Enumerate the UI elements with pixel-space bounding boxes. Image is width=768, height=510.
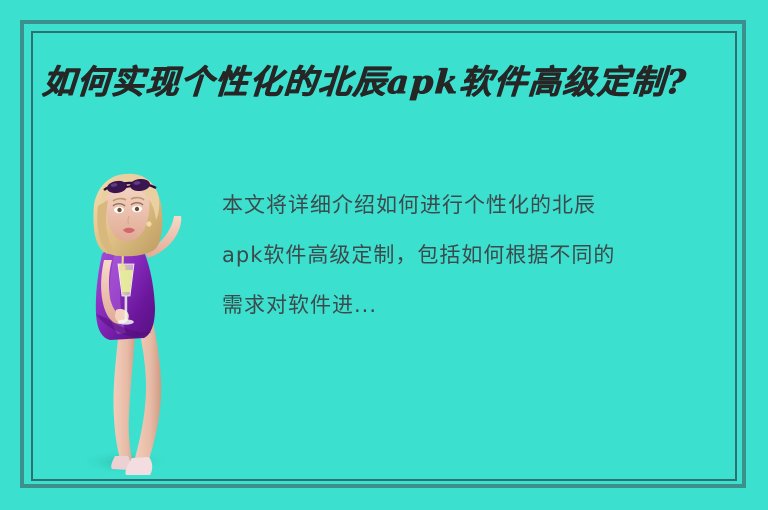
excerpt-line: apk软件高级定制，包括如何根据不同的 [222, 230, 742, 280]
article-excerpt: 本文将详细介绍如何进行个性化的北辰 apk软件高级定制，包括如何根据不同的 需求… [222, 180, 742, 330]
woman-with-champagne-illustration [62, 172, 194, 482]
promo-card: 如何实现个性化的北辰apk软件高级定制? 本文将详细介绍如何进行个性化的北辰 a… [0, 0, 768, 510]
figure-leg-back [113, 320, 136, 460]
page-title: 如何实现个性化的北辰apk软件高级定制? [41, 58, 744, 105]
excerpt-line: 本文将详细介绍如何进行个性化的北辰 [222, 180, 742, 230]
excerpt-line: 需求对软件进... [222, 280, 742, 330]
figure-earring [146, 221, 151, 226]
